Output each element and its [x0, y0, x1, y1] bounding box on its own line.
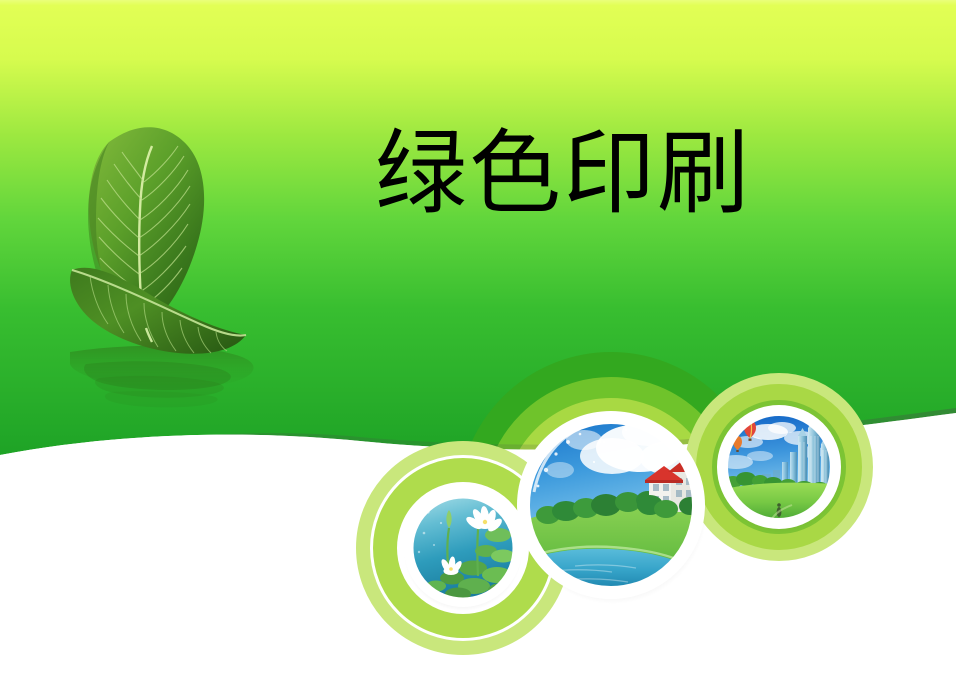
slide-canvas: 绿色印刷 — [0, 0, 956, 673]
photo-circle-lotus-pond — [404, 489, 522, 611]
slide-background-artwork — [0, 0, 956, 673]
page-title: 绿色印刷 — [375, 122, 895, 225]
photo-circle-city-meadow — [717, 405, 842, 533]
